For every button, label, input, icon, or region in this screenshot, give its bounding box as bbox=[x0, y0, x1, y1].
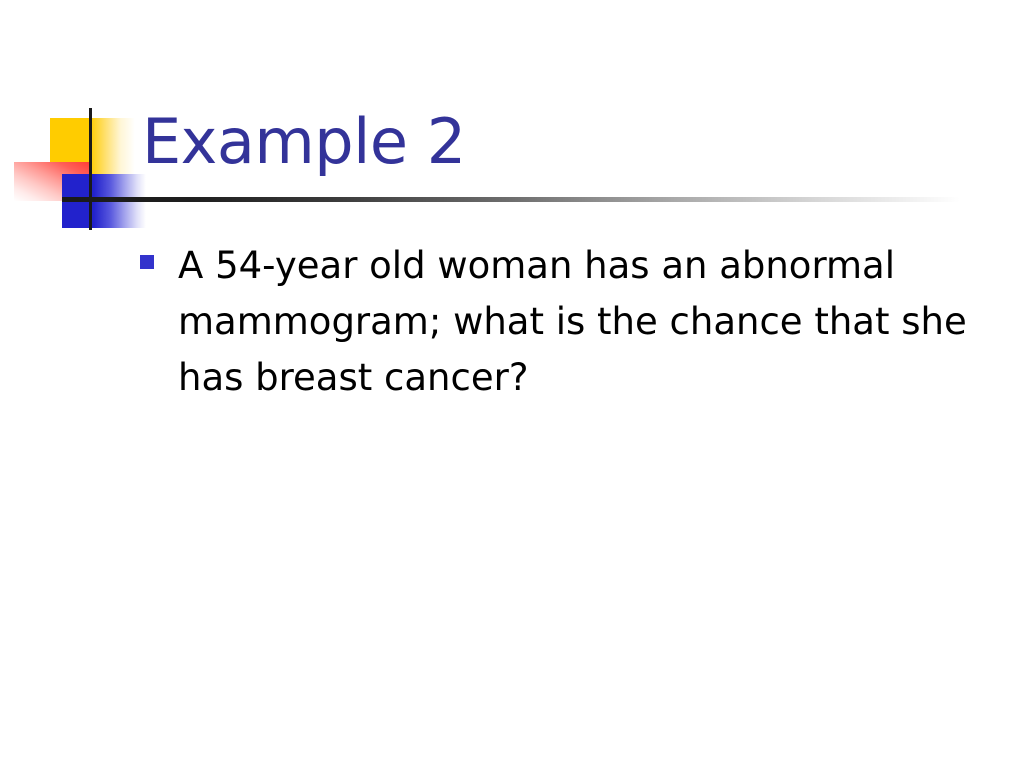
page-title: Example 2 bbox=[142, 106, 962, 178]
slide-canvas: Example 2 A 54-year old woman has an abn… bbox=[0, 0, 1024, 768]
decoration-horizontal-rule bbox=[62, 197, 960, 202]
decoration-vertical-rule bbox=[89, 108, 92, 230]
list-item: A 54-year old woman has an abnormal mamm… bbox=[140, 238, 990, 406]
slide-body: A 54-year old woman has an abnormal mamm… bbox=[140, 238, 990, 406]
square-bullet-icon bbox=[140, 255, 154, 269]
list-item-label: A 54-year old woman has an abnormal mamm… bbox=[178, 238, 968, 406]
